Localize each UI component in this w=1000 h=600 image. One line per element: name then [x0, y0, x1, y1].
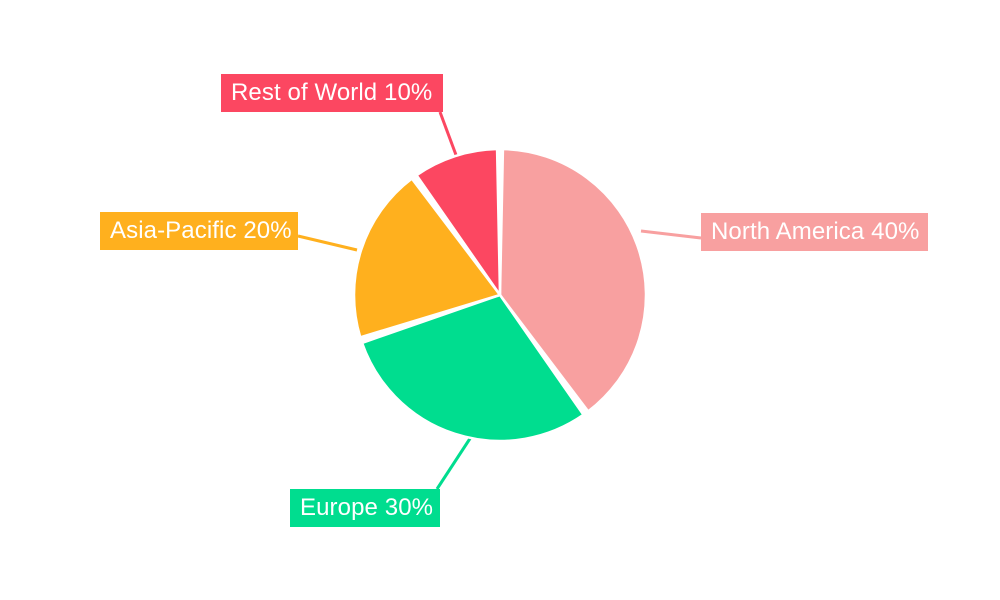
pie-slices-group — [354, 149, 646, 441]
leader-line-asia-pacific — [298, 236, 357, 250]
pie-label-europe[interactable]: Europe 30% — [290, 489, 440, 527]
pie-chart-figure: North America 40%Europe 30%Asia-Pacific … — [0, 0, 1000, 600]
leader-line-north-america — [641, 231, 701, 238]
pie-label-rest-of-world[interactable]: Rest of World 10% — [221, 74, 443, 112]
pie-label-asia-pacific[interactable]: Asia-Pacific 20% — [100, 212, 298, 250]
pie-chart-canvas — [0, 0, 1000, 600]
pie-label-north-america[interactable]: North America 40% — [701, 213, 928, 251]
leader-line-europe — [437, 437, 471, 489]
